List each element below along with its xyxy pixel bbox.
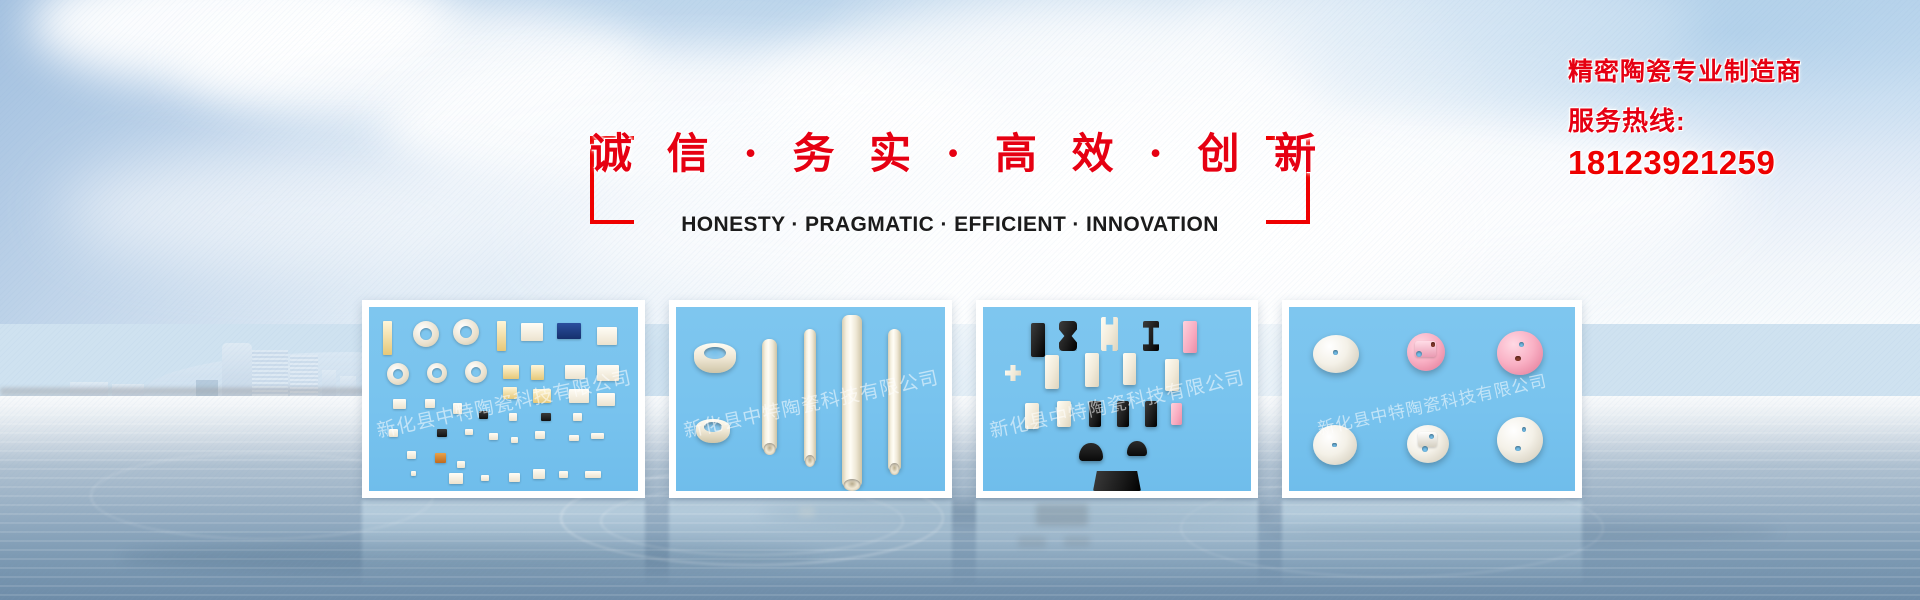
slogan-chinese: 诚 信 · 务 实 · 高 效 · 创 新 [590, 120, 1310, 181]
product-panel-1-image: 新化县中特陶瓷科技有限公司 [369, 307, 638, 491]
product-panel-4[interactable]: 新化县中特陶瓷科技有限公司 [1282, 300, 1582, 498]
company-tagline: 精密陶瓷专业制造商 [1568, 52, 1908, 88]
panel-reflection-detail [976, 500, 1258, 560]
product-panel-1[interactable]: 新化县中特陶瓷科技有限公司 [362, 300, 645, 498]
hero-banner: 诚 信 · 务 实 · 高 效 · 创 新 HONESTY · PRAGMATI… [0, 0, 1920, 600]
slogan-block: 诚 信 · 务 实 · 高 效 · 创 新 HONESTY · PRAGMATI… [590, 136, 1310, 224]
panel-reflection-detail [669, 500, 952, 560]
product-panel-3-image: 新化县中特陶瓷科技有限公司 [983, 307, 1251, 491]
contact-block: 精密陶瓷专业制造商 服务热线: 18123921259 [1568, 52, 1908, 182]
product-panel-2-image: 新化县中特陶瓷科技有限公司 [676, 307, 945, 491]
panel-reflection [362, 500, 645, 586]
slogan-english: HONESTY · PRAGMATIC · EFFICIENT · INNOVA… [590, 213, 1310, 237]
product-panel-row: 新化县中特陶瓷科技有限公司 新化县中特陶瓷科技有限公 [362, 300, 1582, 500]
product-panel-3[interactable]: 新化县中特陶瓷科技有限公司 [976, 300, 1258, 498]
panel-reflection [1282, 500, 1582, 586]
cloud-shape [60, 150, 580, 270]
product-panel-2[interactable]: 新化县中特陶瓷科技有限公司 [669, 300, 952, 498]
hotline-label: 服务热线: [1568, 101, 1908, 138]
product-panel-4-image: 新化县中特陶瓷科技有限公司 [1289, 307, 1575, 491]
hotline-number[interactable]: 18123921259 [1568, 144, 1908, 182]
